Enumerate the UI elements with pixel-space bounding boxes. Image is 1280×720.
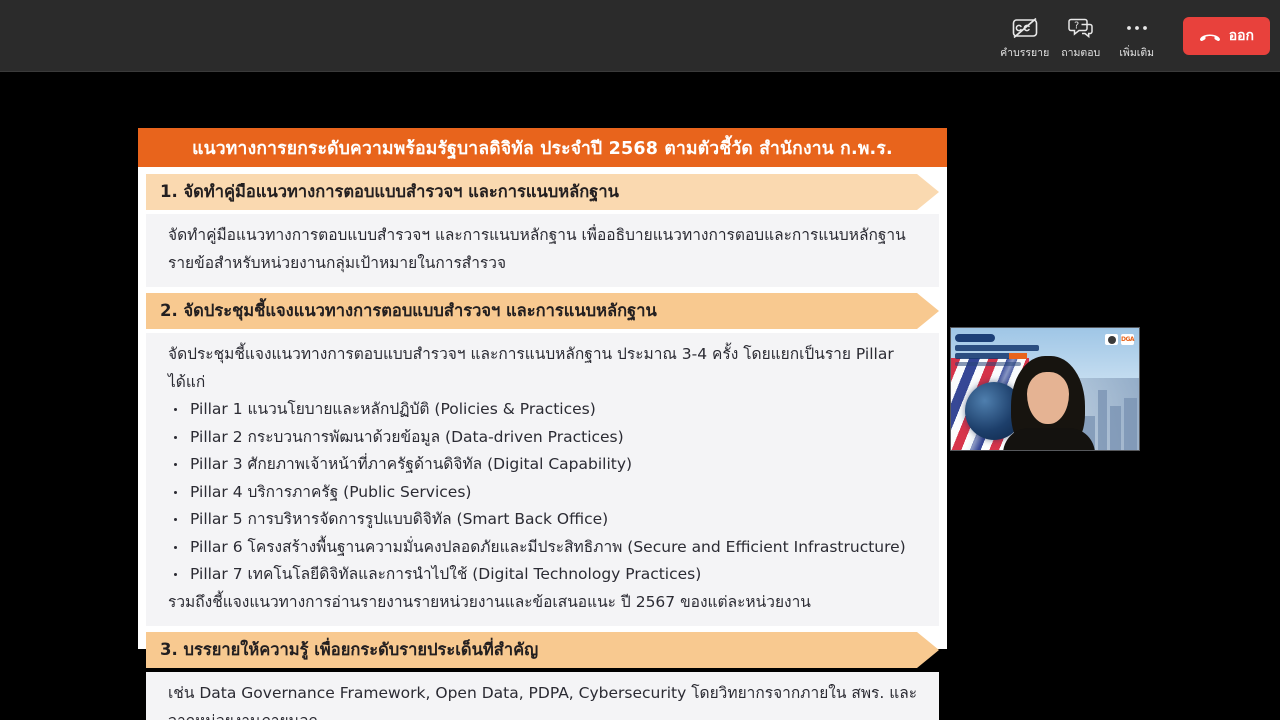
list-item: Pillar 1 แนวนโยบายและหลักปฏิบัติ (Polici… [168, 396, 925, 424]
overlay-year-accent [1009, 353, 1027, 359]
list-item: Pillar 6 โครงสร้างพื้นฐานความมั่นคงปลอดภ… [168, 534, 925, 562]
bullet-dot-icon [174, 491, 177, 494]
city-tower [1124, 398, 1137, 450]
qa-button[interactable]: ? ถามตอบ [1053, 6, 1109, 66]
bullet-dot-icon [174, 546, 177, 549]
pillar-4-text: Pillar 4 บริการภาครัฐ (Public Services) [190, 483, 471, 501]
more-label: เพิ่มเติม [1119, 47, 1154, 59]
bullet-dot-icon [174, 463, 177, 466]
list-item: Pillar 2 กระบวนการพัฒนาด้วยข้อมูล (Data-… [168, 424, 925, 452]
dga-logo-icon: DGA [1121, 334, 1134, 345]
list-item: Pillar 3 ศักยภาพเจ้าหน้าที่ภาครัฐด้านดิจ… [168, 451, 925, 479]
pillar-2-text: Pillar 2 กระบวนการพัฒนาด้วยข้อมูล (Data-… [190, 428, 624, 446]
captions-button[interactable]: คำบรรยาย [997, 6, 1053, 66]
leave-meeting-button[interactable]: ออก [1183, 17, 1270, 55]
participant-video-thumbnail[interactable]: DGA [950, 327, 1140, 451]
pillar-3-text: Pillar 3 ศักยภาพเจ้าหน้าที่ภาครัฐด้านดิจ… [190, 455, 632, 473]
pillar-list: Pillar 1 แนวนโยบายและหลักปฏิบัติ (Polici… [168, 396, 925, 589]
shared-slide[interactable]: แนวทางการยกระดับความพร้อมรัฐบาลดิจิทัล ป… [138, 128, 947, 649]
bullet-dot-icon [174, 518, 177, 521]
pillar-7-text: Pillar 7 เทคโนโลยีดิจิทัลและการนำไปใช้ (… [190, 565, 701, 583]
section-3-body: เช่น Data Governance Framework, Open Dat… [146, 672, 939, 720]
overlay-line-1 [955, 345, 1039, 351]
qa-label: ถามตอบ [1061, 47, 1100, 59]
pillar-6-text: Pillar 6 โครงสร้างพื้นฐานความมั่นคงปลอดภ… [190, 538, 906, 556]
list-item: Pillar 7 เทคโนโลยีดิจิทัลและการนำไปใช้ (… [168, 561, 925, 589]
hang-up-phone-icon [1199, 27, 1221, 46]
captions-label: คำบรรยาย [1000, 47, 1049, 59]
pillar-1-text: Pillar 1 แนวนโยบายและหลักปฏิบัติ (Polici… [190, 400, 596, 418]
section-1-paragraph: จัดทำคู่มือแนวทางการตอบแบบสำรวจฯ และการแ… [168, 222, 925, 277]
list-item: Pillar 4 บริการภาครัฐ (Public Services) [168, 479, 925, 507]
more-button[interactable]: เพิ่มเติม [1109, 6, 1165, 66]
bullet-dot-icon [174, 436, 177, 439]
slide-title: แนวทางการยกระดับความพร้อมรัฐบาลดิจิทัล ป… [138, 128, 947, 167]
question-answer-icon: ? [1066, 13, 1096, 43]
section-1-heading-text: 1. จัดทำคู่มือแนวทางการตอบแบบสำรวจฯ และก… [146, 179, 619, 205]
list-item: Pillar 5 การบริหารจัดการรูปแบบดิจิทัล (S… [168, 506, 925, 534]
section-2-paragraph: จัดประชุมชี้แจงแนวทางการตอบแบบสำรวจฯ และ… [168, 341, 925, 396]
section-1-heading: 1. จัดทำคู่มือแนวทางการตอบแบบสำรวจฯ และก… [146, 174, 939, 210]
more-horizontal-icon [1122, 13, 1152, 43]
section-2-heading-text: 2. จัดประชุมชี้แจงแนวทางการตอบแบบสำรวจฯ … [146, 298, 657, 324]
overlay-badge [955, 334, 995, 342]
section-3-paragraph: เช่น Data Governance Framework, Open Dat… [168, 680, 925, 720]
section-2-body: จัดประชุมชี้แจงแนวทางการตอบแบบสำรวจฯ และ… [146, 333, 939, 626]
section-3-heading: 3. บรรยายให้ความรู้ เพื่อยกระดับรายประเด… [146, 632, 939, 668]
overlay-line-3 [955, 362, 1021, 366]
section-3-heading-text: 3. บรรยายให้ความรู้ เพื่อยกระดับรายประเด… [146, 637, 538, 663]
avatar [1105, 334, 1118, 345]
city-tower [1110, 406, 1121, 450]
bullet-dot-icon [174, 408, 177, 411]
svg-text:?: ? [1074, 20, 1079, 31]
toolbar-actions: คำบรรยาย ? ถามตอบ [997, 0, 1270, 72]
leave-label: ออก [1229, 25, 1254, 47]
overlay-line-2 [955, 353, 1027, 359]
slide-body: 1. จัดทำคู่มือแนวทางการตอบแบบสำรวจฯ และก… [138, 167, 947, 720]
section-2-closing: รวมถึงชี้แจงแนวทางการอ่านรายงานรายหน่วยง… [168, 589, 925, 617]
city-tower [1098, 390, 1107, 450]
closed-caption-off-icon [1010, 13, 1040, 43]
section-2-heading: 2. จัดประชุมชี้แจงแนวทางการตอบแบบสำรวจฯ … [146, 293, 939, 329]
participant-body [1003, 428, 1095, 451]
pillar-5-text: Pillar 5 การบริหารจัดการรูปแบบดิจิทัล (S… [190, 510, 608, 528]
bullet-dot-icon [174, 573, 177, 576]
meeting-toolbar: คำบรรยาย ? ถามตอบ [0, 0, 1280, 72]
video-overlay-logos: DGA [1105, 334, 1134, 345]
video-overlay-title [955, 334, 1047, 372]
section-1-body: จัดทำคู่มือแนวทางการตอบแบบสำรวจฯ และการแ… [146, 214, 939, 287]
meeting-screen: คำบรรยาย ? ถามตอบ [0, 0, 1280, 720]
